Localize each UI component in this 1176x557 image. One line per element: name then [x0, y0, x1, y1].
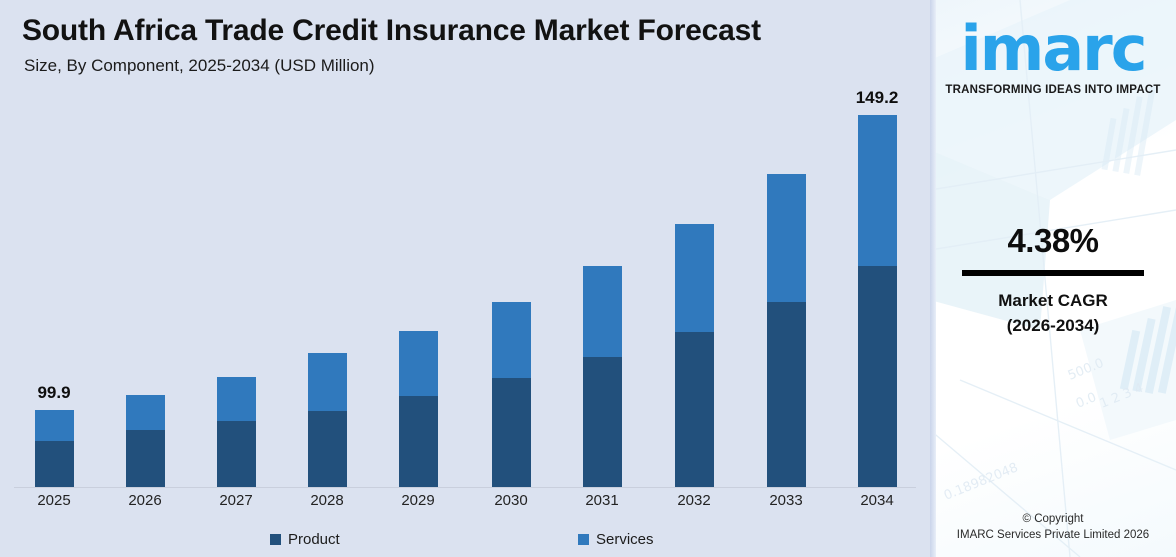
bar-segment-product-2032[interactable]	[675, 332, 714, 487]
cagr-value: 4.38%	[930, 222, 1176, 260]
plot-area: 99.9202520262027202820292030203120322033…	[0, 0, 930, 557]
chart-page: South Africa Trade Credit Insurance Mark…	[0, 0, 1176, 557]
legend-label-services: Services	[596, 531, 654, 548]
bar-segment-services-2029[interactable]	[399, 331, 438, 396]
bar-segment-product-2025[interactable]	[35, 441, 74, 487]
svg-text:0.0: 0.0	[1074, 390, 1099, 412]
bar-segment-services-2026[interactable]	[126, 395, 165, 430]
bar-segment-product-2031[interactable]	[583, 357, 622, 487]
copyright-notice: © Copyright IMARC Services Private Limit…	[930, 511, 1176, 543]
x-axis-tick-2028: 2028	[287, 492, 367, 509]
bar-segment-services-2030[interactable]	[492, 302, 531, 378]
brand-panel: 500.0 0.0 1 2 3 4 0.18982048 imarc TRANS…	[930, 0, 1176, 557]
x-axis-tick-2029: 2029	[378, 492, 458, 509]
imarc-logo-wordmark: imarc	[930, 18, 1176, 80]
copyright-line1: © Copyright	[930, 511, 1176, 527]
copyright-line2: IMARC Services Private Limited 2026	[930, 527, 1176, 543]
bar-segment-product-2027[interactable]	[217, 421, 256, 487]
bar-segment-product-2033[interactable]	[767, 302, 806, 487]
bar-2026[interactable]	[126, 395, 165, 487]
bar-segment-services-2034[interactable]	[858, 115, 897, 266]
x-axis-tick-2033: 2033	[746, 492, 826, 509]
x-axis-tick-2032: 2032	[654, 492, 734, 509]
x-axis-tick-2026: 2026	[105, 492, 185, 509]
x-axis-tick-2031: 2031	[562, 492, 642, 509]
legend-swatch-product	[270, 534, 281, 545]
legend-swatch-services	[578, 534, 589, 545]
x-axis-tick-2030: 2030	[471, 492, 551, 509]
bar-2032[interactable]	[675, 224, 714, 487]
cagr-caption-line2: (2026-2034)	[930, 313, 1176, 338]
legend-item-services[interactable]: Services	[578, 531, 654, 548]
bar-value-label-2025: 99.9	[37, 383, 70, 403]
bar-2033[interactable]	[767, 174, 806, 487]
imarc-logo-tagline: TRANSFORMING IDEAS INTO IMPACT	[930, 84, 1176, 96]
bar-segment-product-2029[interactable]	[399, 396, 438, 487]
legend-item-product[interactable]: Product	[270, 531, 340, 548]
bar-segment-product-2028[interactable]	[308, 411, 347, 487]
bar-value-label-2034: 149.2	[856, 88, 899, 108]
imarc-logo: imarc TRANSFORMING IDEAS INTO IMPACT	[930, 18, 1176, 96]
x-axis-tick-2025: 2025	[14, 492, 94, 509]
bar-2029[interactable]	[399, 331, 438, 487]
bar-segment-services-2033[interactable]	[767, 174, 806, 302]
bar-segment-services-2031[interactable]	[583, 266, 622, 357]
bar-segment-services-2025[interactable]	[35, 410, 74, 441]
bar-2027[interactable]	[217, 377, 256, 487]
bar-2034[interactable]	[858, 115, 897, 487]
bar-segment-services-2032[interactable]	[675, 224, 714, 332]
chart-panel: South Africa Trade Credit Insurance Mark…	[0, 0, 930, 557]
bar-segment-product-2034[interactable]	[858, 266, 897, 487]
bar-2028[interactable]	[308, 353, 347, 487]
x-axis-tick-2027: 2027	[196, 492, 276, 509]
bar-2031[interactable]	[583, 266, 622, 487]
cagr-caption-line1: Market CAGR	[930, 288, 1176, 313]
legend-label-product: Product	[288, 531, 340, 548]
chart-legend: Product Services	[0, 531, 930, 553]
x-axis-tick-2034: 2034	[837, 492, 917, 509]
bar-2025[interactable]	[35, 410, 74, 487]
cagr-divider	[962, 270, 1144, 276]
bar-2030[interactable]	[492, 302, 531, 487]
axis-baseline	[14, 487, 916, 488]
bar-segment-product-2026[interactable]	[126, 430, 165, 487]
bar-segment-services-2027[interactable]	[217, 377, 256, 421]
bar-segment-product-2030[interactable]	[492, 378, 531, 487]
bar-segment-services-2028[interactable]	[308, 353, 347, 411]
cagr-block: 4.38% Market CAGR (2026-2034)	[930, 222, 1176, 338]
